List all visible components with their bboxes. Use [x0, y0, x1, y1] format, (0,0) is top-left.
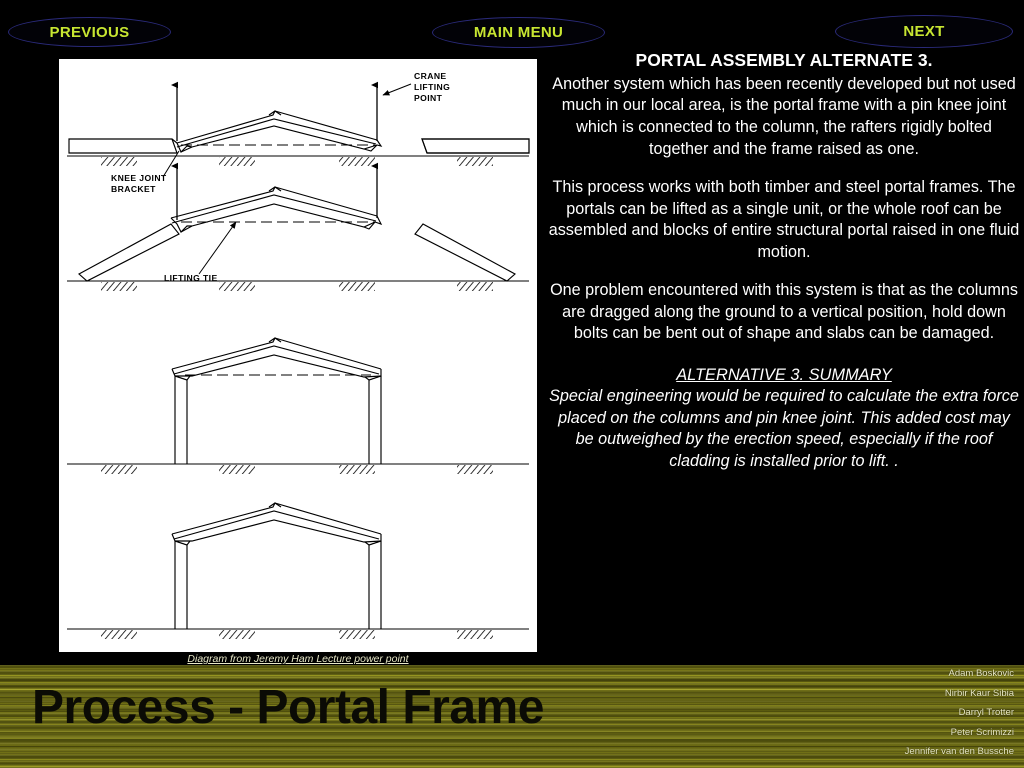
portal-frame-diagram-svg: CRANE LIFTING POINT KNEE JOINT BRACKET L…: [59, 59, 537, 652]
diagram-caption: Diagram from Jeremy Ham Lecture power po…: [59, 653, 537, 665]
figure-1-frame-flat: [67, 84, 529, 177]
credit-name: Nirbir Kaur Sibia: [774, 689, 1014, 699]
content-column: PORTAL ASSEMBLY ALTERNATE 3. Another sys…: [548, 50, 1020, 650]
lifting-tie-label: LIFTING TIE: [164, 273, 218, 283]
crane-lifting-point-label-line2: LIFTING: [414, 82, 450, 92]
slide-canvas: PREVIOUS MAIN MENU NEXT: [0, 0, 1024, 768]
summary-body: Special engineering would be required to…: [548, 386, 1020, 472]
main-menu-button-label: MAIN MENU: [474, 24, 563, 41]
paragraph-1: Another system which has been recently d…: [548, 74, 1020, 160]
figure-3-frame-erected: [67, 338, 529, 474]
next-button[interactable]: NEXT: [835, 15, 1013, 48]
credit-name: Peter Scrimizzi: [774, 728, 1014, 738]
portal-frame-diagram: CRANE LIFTING POINT KNEE JOINT BRACKET L…: [59, 59, 537, 652]
knee-joint-bracket-label-line1: KNEE JOINT: [111, 173, 167, 183]
next-button-label: NEXT: [903, 23, 944, 40]
credit-name: Jennifer van den Bussche: [774, 747, 1014, 757]
credit-name: Adam Boskovic: [774, 669, 1014, 679]
crane-lifting-point-label-line1: CRANE: [414, 71, 447, 81]
banner-title: Process - Portal Frame: [32, 679, 544, 737]
slide-title: PORTAL ASSEMBLY ALTERNATE 3.: [548, 50, 1020, 72]
paragraph-2: This process works with both timber and …: [548, 177, 1020, 263]
crane-lifting-point-label-line3: POINT: [414, 93, 443, 103]
knee-joint-bracket-label-line2: BRACKET: [111, 184, 156, 194]
credit-name: Darryl Trotter: [774, 708, 1014, 718]
figure-4-frame-complete: [67, 503, 529, 639]
main-menu-button[interactable]: MAIN MENU: [432, 17, 605, 48]
summary-heading: ALTERNATIVE 3. SUMMARY: [548, 365, 1020, 386]
previous-button-label: PREVIOUS: [50, 24, 130, 41]
previous-button[interactable]: PREVIOUS: [8, 17, 171, 47]
footer-banner: Process - Portal Frame Adam Boskovic Nir…: [0, 665, 1024, 768]
paragraph-3: One problem encountered with this system…: [548, 280, 1020, 345]
credits-list: Adam Boskovic Nirbir Kaur Sibia Darryl T…: [774, 669, 1014, 767]
